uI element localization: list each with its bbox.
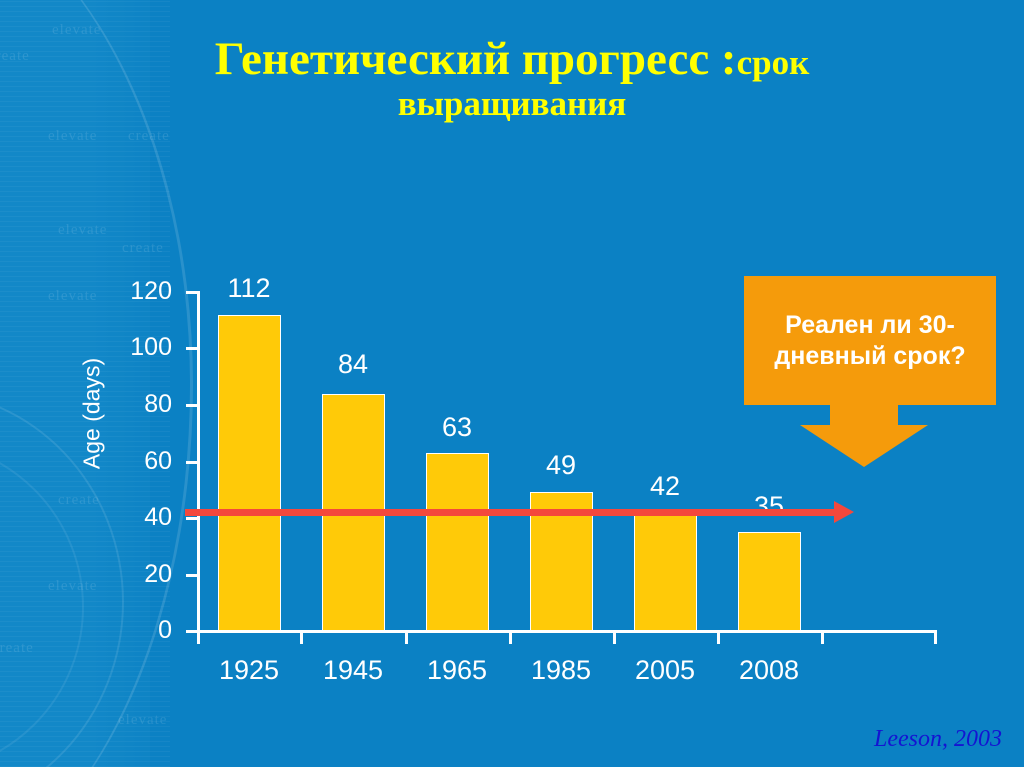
bar-value-1985: 49 xyxy=(501,452,621,479)
x-tick-7 xyxy=(934,630,937,644)
y-tick-100 xyxy=(186,347,198,350)
bar-value-2005: 42 xyxy=(605,473,725,500)
x-axis-label-1945: 1945 xyxy=(293,655,413,686)
callout-box[interactable]: Реален ли 30-дневный срок? xyxy=(744,276,996,405)
x-tick-3 xyxy=(509,630,512,644)
trend-arrow-head-icon xyxy=(834,501,854,523)
slide-canvas: elevate create elevate create elevate cr… xyxy=(0,0,1024,767)
bar-2005[interactable] xyxy=(634,512,697,631)
x-axis-label-1925: 1925 xyxy=(189,655,309,686)
x-tick-6 xyxy=(821,630,824,644)
y-axis-label-80: 80 xyxy=(92,392,172,417)
bar-value-1925: 112 xyxy=(189,275,309,302)
x-axis-label-1965: 1965 xyxy=(397,655,517,686)
trend-threshold-line xyxy=(185,509,840,516)
bar-1925[interactable] xyxy=(218,315,281,631)
x-axis-label-2008: 2008 xyxy=(709,655,829,686)
source-citation: Leeson, 2003 xyxy=(874,726,1002,753)
x-tick-5 xyxy=(717,630,720,644)
bar-2008[interactable] xyxy=(738,532,801,631)
y-tick-80 xyxy=(186,404,198,407)
bar-value-1965: 63 xyxy=(397,414,517,441)
x-axis-label-2005: 2005 xyxy=(605,655,725,686)
x-tick-4 xyxy=(613,630,616,644)
y-axis-label-60: 60 xyxy=(92,449,172,474)
y-axis-label-0: 0 xyxy=(92,618,172,643)
x-axis-label-1985: 1985 xyxy=(501,655,621,686)
y-tick-60 xyxy=(186,461,198,464)
bar-1965[interactable] xyxy=(426,453,489,631)
y-axis-label-40: 40 xyxy=(92,505,172,530)
x-tick-0 xyxy=(197,630,200,644)
x-tick-1 xyxy=(300,630,303,644)
y-axis-label-20: 20 xyxy=(92,562,172,587)
y-tick-20 xyxy=(186,574,198,577)
y-axis-label-120: 120 xyxy=(92,279,172,304)
callout-text: Реален ли 30-дневный срок? xyxy=(754,310,986,371)
callout-down-arrow-icon xyxy=(800,403,928,467)
x-tick-2 xyxy=(405,630,408,644)
y-tick-40 xyxy=(186,517,198,520)
y-axis-label-100: 100 xyxy=(92,335,172,360)
bar-value-1945: 84 xyxy=(293,351,413,378)
